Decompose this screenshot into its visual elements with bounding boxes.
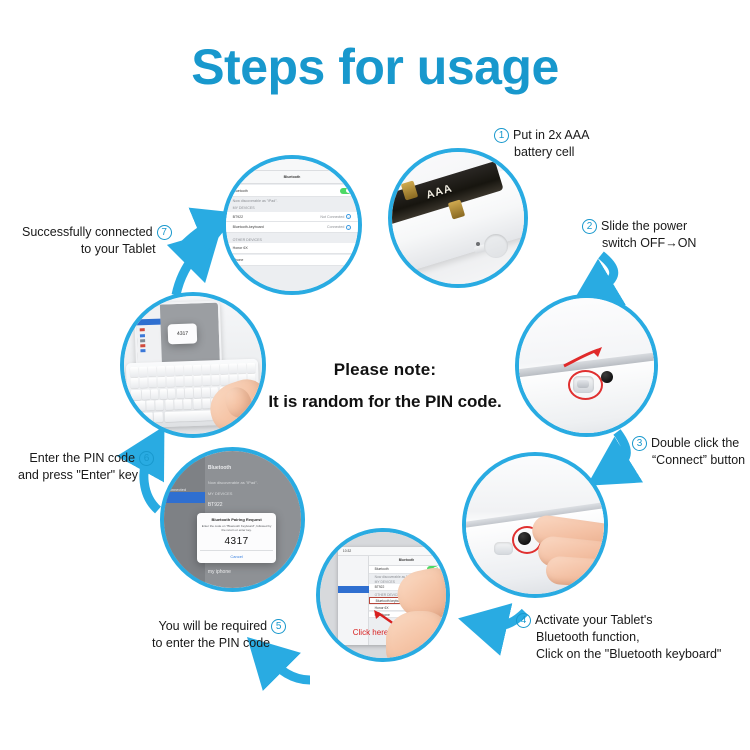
pin-code: 4317 bbox=[170, 329, 196, 336]
bt-row-label: BT922 bbox=[233, 215, 244, 219]
red-arrow-icon bbox=[562, 344, 608, 372]
click-here-annotation: Click here bbox=[353, 628, 389, 637]
photo-power-switch bbox=[515, 294, 658, 437]
infographic-page: Steps for usage AAA bbox=[0, 0, 750, 750]
photo-connect-button bbox=[462, 452, 608, 598]
bt-caption: Now discoverable as "iPad". bbox=[226, 197, 358, 205]
bt-row-label: BT922 bbox=[375, 585, 385, 589]
step-6-number: 6 bbox=[139, 451, 154, 466]
step-4-number: 4 bbox=[516, 613, 531, 628]
step-1-number: 1 bbox=[494, 128, 509, 143]
status-battery: 100% bbox=[342, 162, 351, 166]
page-title: Steps for usage bbox=[0, 38, 750, 96]
pin-code: 4317 bbox=[200, 536, 273, 547]
step-4-line-3: Click on the "Bluetooth keyboard" bbox=[512, 646, 721, 663]
bt-row-label: Bluetooth bbox=[233, 189, 248, 193]
step-7-text: Successfully connected7 to your Tablet bbox=[22, 224, 176, 258]
step-2-line-1: Slide the power bbox=[601, 219, 687, 233]
step-4-line-1: Activate your Tablet's bbox=[535, 613, 653, 627]
note-line-1: Please note: bbox=[245, 360, 525, 380]
bt-device-row[interactable]: Honor 6X bbox=[226, 243, 358, 254]
bt-nav-title: Bluetooth bbox=[369, 556, 443, 566]
bt-device-row[interactable]: BT922 Not Connected i bbox=[226, 212, 358, 223]
bt-row-value: Connected bbox=[327, 225, 344, 229]
step-6-text: Enter the PIN code6 and press "Enter" ke… bbox=[18, 450, 158, 484]
step-5-text: You will be required5 to enter the PIN c… bbox=[152, 618, 290, 652]
please-note-block: Please note: It is random for the PIN co… bbox=[245, 360, 525, 412]
arrow-1-to-2 bbox=[595, 255, 614, 292]
step-3-number: 3 bbox=[632, 436, 647, 451]
step-7-line-2: to your Tablet bbox=[22, 241, 176, 258]
arrow-2-to-3 bbox=[612, 432, 626, 470]
note-line-2: It is random for the PIN code. bbox=[245, 392, 525, 412]
step-2-text: 2Slide the power switch OFF→ON bbox=[578, 218, 696, 252]
step-1-line-1: Put in 2x AAA bbox=[513, 128, 589, 142]
status-time: 10:32 bbox=[343, 549, 351, 553]
info-circle-icon[interactable]: i bbox=[346, 214, 351, 219]
step-2-line-2: switch OFF→ON bbox=[578, 235, 696, 252]
step-3-line-2: “Connect” button bbox=[628, 452, 745, 469]
step-4-text: 4Activate your Tablet's Bluetooth functi… bbox=[512, 612, 721, 663]
dialog-title: Bluetooth Pairing Request bbox=[200, 517, 273, 522]
step-2-number: 2 bbox=[582, 219, 597, 234]
toggle-on-icon[interactable] bbox=[340, 188, 351, 194]
step-5-number: 5 bbox=[271, 619, 286, 634]
step-1-text: 1Put in 2x AAA battery cell bbox=[490, 127, 589, 161]
step-6-line-2: and press "Enter" key bbox=[18, 467, 158, 484]
photo-bluetooth-connected: 10:32 100% Bluetooth Bluetooth Now disco… bbox=[222, 155, 362, 295]
step-6-line-1: Enter the PIN code bbox=[29, 451, 135, 465]
arrow-7-to-result bbox=[180, 223, 214, 248]
arrow-4-to-5 bbox=[268, 658, 310, 680]
bt-row-label: Bluetooth bbox=[375, 567, 389, 571]
step-5-line-1: You will be required bbox=[159, 619, 268, 633]
step-3-line-1: Double click the bbox=[651, 436, 739, 450]
step-1-line-2: battery cell bbox=[490, 144, 589, 161]
bt-device-row[interactable]: Bluetooth-keyboard Connected i bbox=[226, 222, 358, 233]
bt-row-label: iphone bbox=[233, 258, 244, 262]
status-time: 10:32 bbox=[233, 162, 242, 166]
finger bbox=[545, 556, 608, 589]
status-battery: 100% bbox=[430, 549, 438, 553]
dialog-message: Enter the code on "Bluetooth Keyboard", … bbox=[200, 524, 273, 533]
photo-battery-compartment: AAA bbox=[388, 148, 528, 288]
bt-section: MY DEVICES bbox=[208, 491, 233, 496]
bt-section: OTHER DEVICES bbox=[226, 236, 358, 244]
arrow-6-to-7 bbox=[176, 250, 200, 295]
bt-section: MY DEVICES bbox=[226, 205, 358, 212]
bt-bottom-device: my iphone bbox=[208, 569, 231, 575]
red-highlight-circle-icon bbox=[568, 370, 603, 400]
bt-device-row[interactable]: iphone bbox=[226, 255, 358, 266]
photo-pairing-request: Connected Bluetooth Now discoverable as … bbox=[160, 447, 305, 592]
dialog-cancel-button[interactable]: Cancel bbox=[200, 550, 273, 559]
bt-row-label: Honor 6X bbox=[233, 246, 248, 250]
step-7-number: 7 bbox=[157, 225, 172, 240]
pairing-dialog: Bluetooth Pairing Request Enter the code… bbox=[197, 513, 276, 563]
bt-row-label: Bluetooth-keyboard bbox=[233, 225, 264, 229]
step-7-line-1: Successfully connected bbox=[22, 225, 153, 239]
bt-nav-title: Bluetooth bbox=[226, 171, 358, 184]
bt-row-value: Not Connected bbox=[320, 215, 344, 219]
step-3-text: 3Double click the “Connect” button bbox=[628, 435, 745, 469]
bt-caption: Now discoverable as "iPad". bbox=[208, 480, 258, 485]
step-4-line-2: Bluetooth function, bbox=[512, 629, 721, 646]
info-circle-icon[interactable]: i bbox=[346, 225, 351, 230]
bt-device: BT922 bbox=[208, 502, 223, 508]
step-5-line-2: to enter the PIN code bbox=[152, 635, 290, 652]
hand bbox=[386, 611, 449, 662]
sidebar-connected-label: Connected bbox=[167, 487, 186, 492]
bt-nav-title: Bluetooth bbox=[208, 465, 231, 471]
photo-tablet-bluetooth-click: 10:32 100% Bluetooth Bluetooth Now disco… bbox=[316, 528, 450, 662]
